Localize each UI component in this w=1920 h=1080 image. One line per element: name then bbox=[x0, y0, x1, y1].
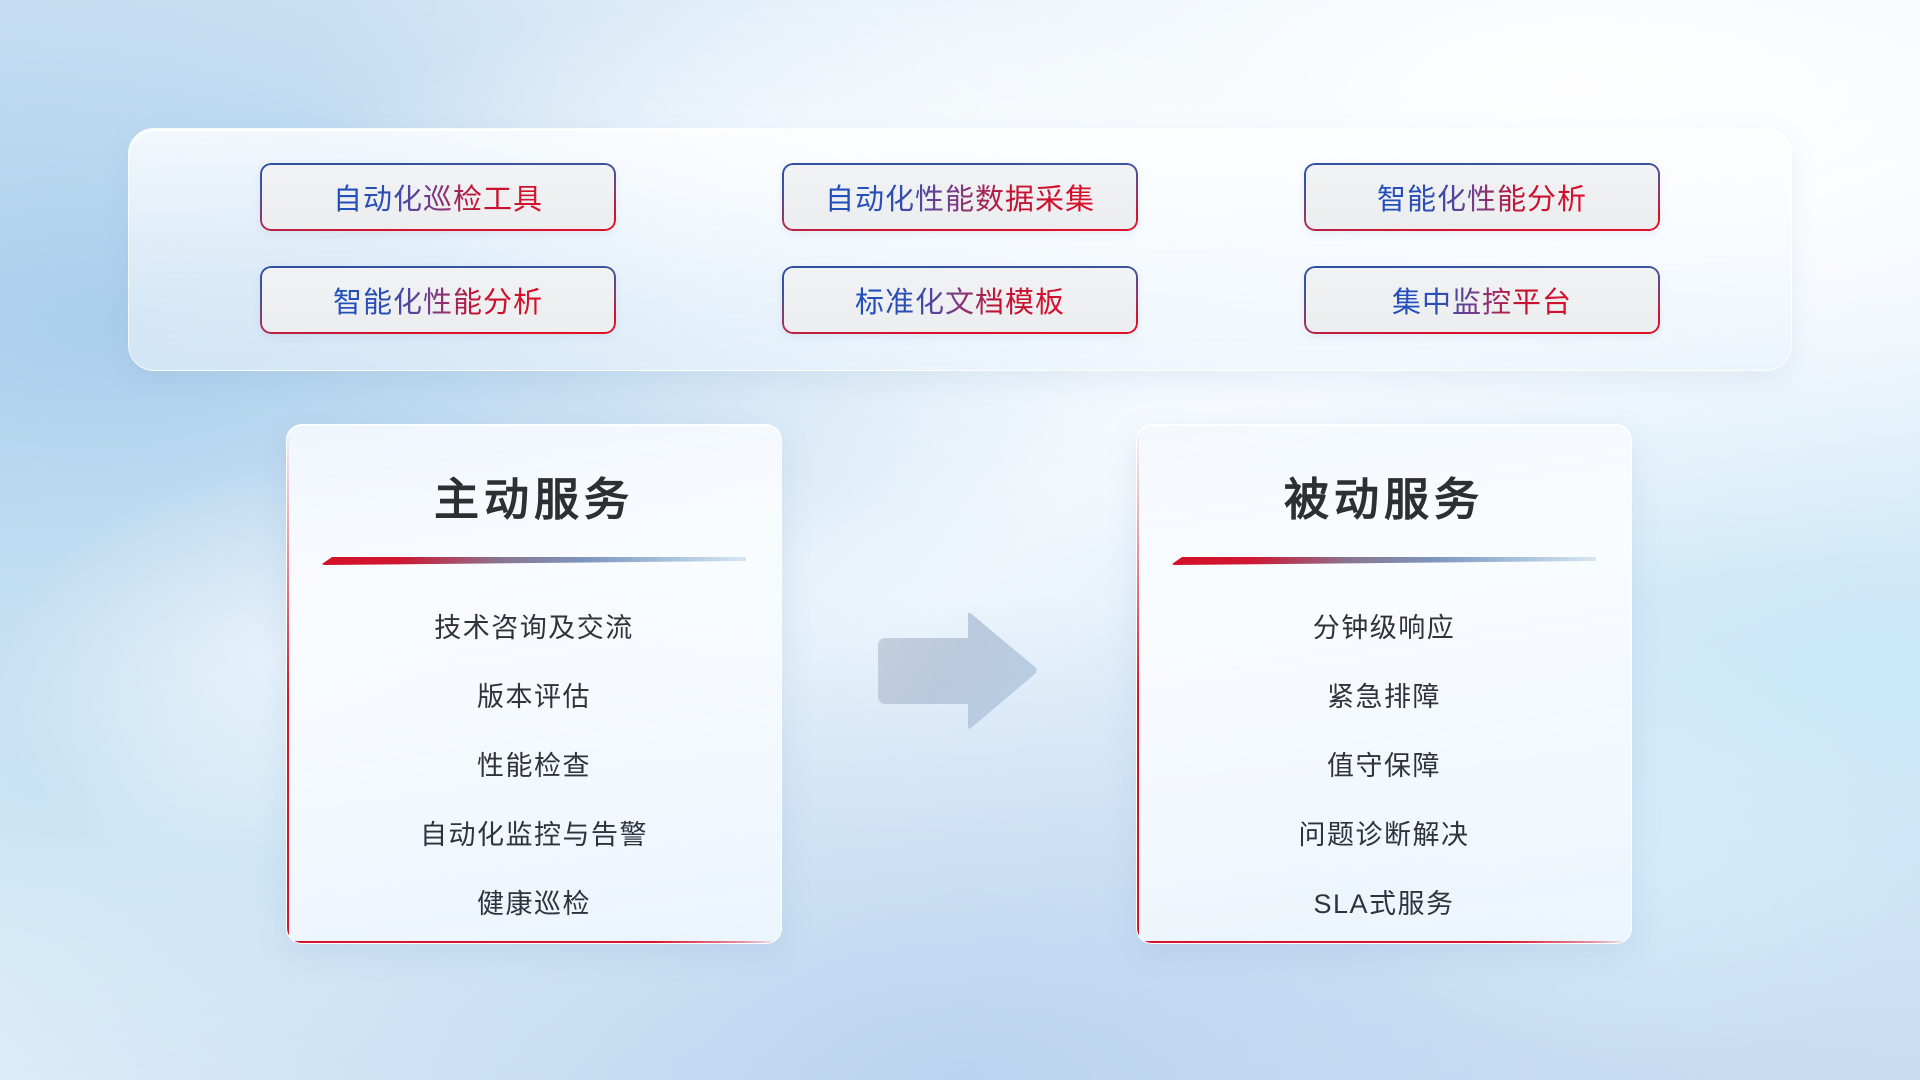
capability-pill-label: 自动化性能数据采集 bbox=[825, 176, 1095, 218]
card-title: 被动服务 bbox=[1137, 425, 1631, 528]
service-list-item: 值守保障 bbox=[1137, 732, 1631, 801]
card-title: 主动服务 bbox=[287, 425, 781, 528]
service-list-item: SLA式服务 bbox=[1137, 870, 1631, 939]
capability-pill-label: 标准化文档模板 bbox=[855, 279, 1065, 321]
capability-pill-label: 集中监控平台 bbox=[1392, 279, 1572, 321]
right-arrow-icon bbox=[872, 612, 1038, 730]
capability-pill[interactable]: 智能化性能分析 bbox=[260, 266, 616, 334]
card-accent-edge bbox=[287, 425, 289, 943]
capability-pill-grid: 自动化巡检工具 自动化性能数据采集 智能化性能分析 智能化性能分析 标准化文档模… bbox=[129, 129, 1791, 370]
service-list-item: 版本评估 bbox=[287, 663, 781, 732]
capability-pill[interactable]: 自动化巡检工具 bbox=[260, 163, 616, 231]
capability-pill[interactable]: 集中监控平台 bbox=[1304, 266, 1660, 334]
service-item-list: 分钟级响应 紧急排障 值守保障 问题诊断解决 SLA式服务 bbox=[1137, 566, 1631, 939]
service-list-item: 分钟级响应 bbox=[1137, 594, 1631, 663]
service-list-item: 自动化监控与告警 bbox=[287, 801, 781, 870]
card-accent-edge bbox=[1137, 425, 1139, 943]
service-card-reactive: 被动服务 分钟级响应 紧急排障 值守保障 问题诊断解决 SLA式服务 bbox=[1136, 424, 1632, 944]
card-accent-edge bbox=[287, 941, 781, 943]
card-divider bbox=[322, 554, 746, 566]
capability-pill-label: 智能化性能分析 bbox=[333, 279, 543, 321]
service-list-item: 问题诊断解决 bbox=[1137, 801, 1631, 870]
service-list-item: 性能检查 bbox=[287, 732, 781, 801]
service-list-item: 技术咨询及交流 bbox=[287, 594, 781, 663]
capability-pill-label: 自动化巡检工具 bbox=[333, 176, 543, 218]
capability-pill[interactable]: 自动化性能数据采集 bbox=[782, 163, 1138, 231]
service-item-list: 技术咨询及交流 版本评估 性能检查 自动化监控与告警 健康巡检 bbox=[287, 566, 781, 939]
card-divider bbox=[1172, 554, 1596, 566]
capability-pill-label: 智能化性能分析 bbox=[1377, 176, 1587, 218]
capability-pill[interactable]: 标准化文档模板 bbox=[782, 266, 1138, 334]
service-card-proactive: 主动服务 技术咨询及交流 版本评估 性能检查 自动化监控与告警 健康巡检 bbox=[286, 424, 782, 944]
capability-pill[interactable]: 智能化性能分析 bbox=[1304, 163, 1660, 231]
service-list-item: 紧急排障 bbox=[1137, 663, 1631, 732]
card-accent-edge bbox=[1137, 941, 1631, 943]
capability-panel: 自动化巡检工具 自动化性能数据采集 智能化性能分析 智能化性能分析 标准化文档模… bbox=[128, 128, 1792, 371]
service-list-item: 健康巡检 bbox=[287, 870, 781, 939]
